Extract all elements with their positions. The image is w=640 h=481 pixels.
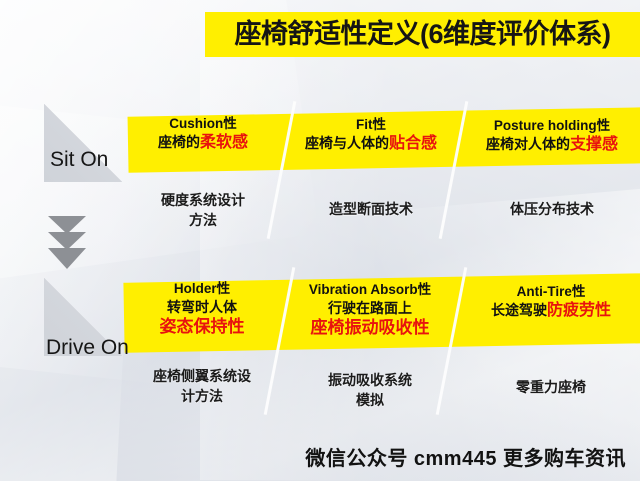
dimension-title-cn: 座椅与人体的贴合感 — [292, 134, 450, 155]
page-title: 座椅舒适性定义(6维度评价体系) — [235, 21, 611, 48]
method-label-cushion: 硬度系统设计 方法 — [128, 190, 278, 231]
cn-highlight: 支撑感 — [570, 136, 618, 153]
cn-prefix: 座椅的 — [158, 134, 200, 150]
stage-label-drive-on: Drive On — [46, 336, 129, 360]
dimension-title-cn: 座椅对人体的支撑感 — [464, 135, 640, 156]
dimension-title-cn: 座椅的柔软感 — [128, 133, 278, 154]
cn-highlight: 防疲劳性 — [547, 302, 611, 319]
cn-highlight: 座椅振动吸收性 — [288, 317, 452, 338]
dimension-title-en: Fit性 — [292, 117, 450, 134]
cn-prefix: 座椅与人体的 — [305, 135, 389, 151]
cn-prefix: 座椅对人体的 — [486, 136, 570, 152]
watermark-text: 微信公众号 cmm445 更多购车资讯 — [0, 442, 626, 471]
dimension-title-en: Vibration Absorb性 — [288, 282, 452, 299]
cn-highlight: 柔软感 — [200, 134, 248, 151]
triple-chevron-down-icon — [38, 214, 96, 270]
dimension-cell-posture-holding: Posture holding性 座椅对人体的支撑感 — [464, 118, 640, 156]
dimension-cell-fit: Fit性 座椅与人体的贴合感 — [292, 117, 450, 155]
dimension-title-cn: 长途驾驶防疲劳性 — [462, 301, 640, 322]
dimension-subtitle-cn: 转弯时人体 — [126, 298, 278, 316]
method-label-holder: 座椅侧翼系统设 计方法 — [126, 366, 278, 407]
cn-prefix: 长途驾驶 — [491, 302, 547, 318]
dimension-title-en: Cushion性 — [128, 116, 278, 133]
method-label-vibration-absorb: 振动吸收系统 模拟 — [288, 370, 452, 411]
slide-title-banner: 座椅舒适性定义(6维度评价体系) — [205, 12, 640, 57]
dimension-title-en: Holder性 — [126, 281, 278, 298]
dimension-title-en: Anti-Tire性 — [462, 284, 640, 301]
dimension-subtitle-cn: 行驶在路面上 — [288, 299, 452, 317]
slide-canvas: 座椅舒适性定义(6维度评价体系) Sit On Drive On Cushion… — [0, 0, 640, 481]
method-label-anti-tire: 零重力座椅 — [462, 377, 640, 397]
dimension-cell-cushion: Cushion性 座椅的柔软感 — [128, 116, 278, 154]
dimension-cell-holder: Holder性 转弯时人体 姿态保持性 — [126, 281, 278, 337]
dimension-title-en: Posture holding性 — [464, 118, 640, 135]
stage-label-sit-on: Sit On — [50, 148, 108, 172]
dimension-cell-vibration-absorb: Vibration Absorb性 行驶在路面上 座椅振动吸收性 — [288, 282, 452, 338]
dimension-cell-anti-tire: Anti-Tire性 长途驾驶防疲劳性 — [462, 284, 640, 322]
cn-highlight: 贴合感 — [389, 135, 437, 152]
method-label-fit: 造型断面技术 — [292, 199, 450, 219]
method-label-posture-holding: 体压分布技术 — [464, 199, 640, 219]
cn-highlight: 姿态保持性 — [126, 316, 278, 337]
